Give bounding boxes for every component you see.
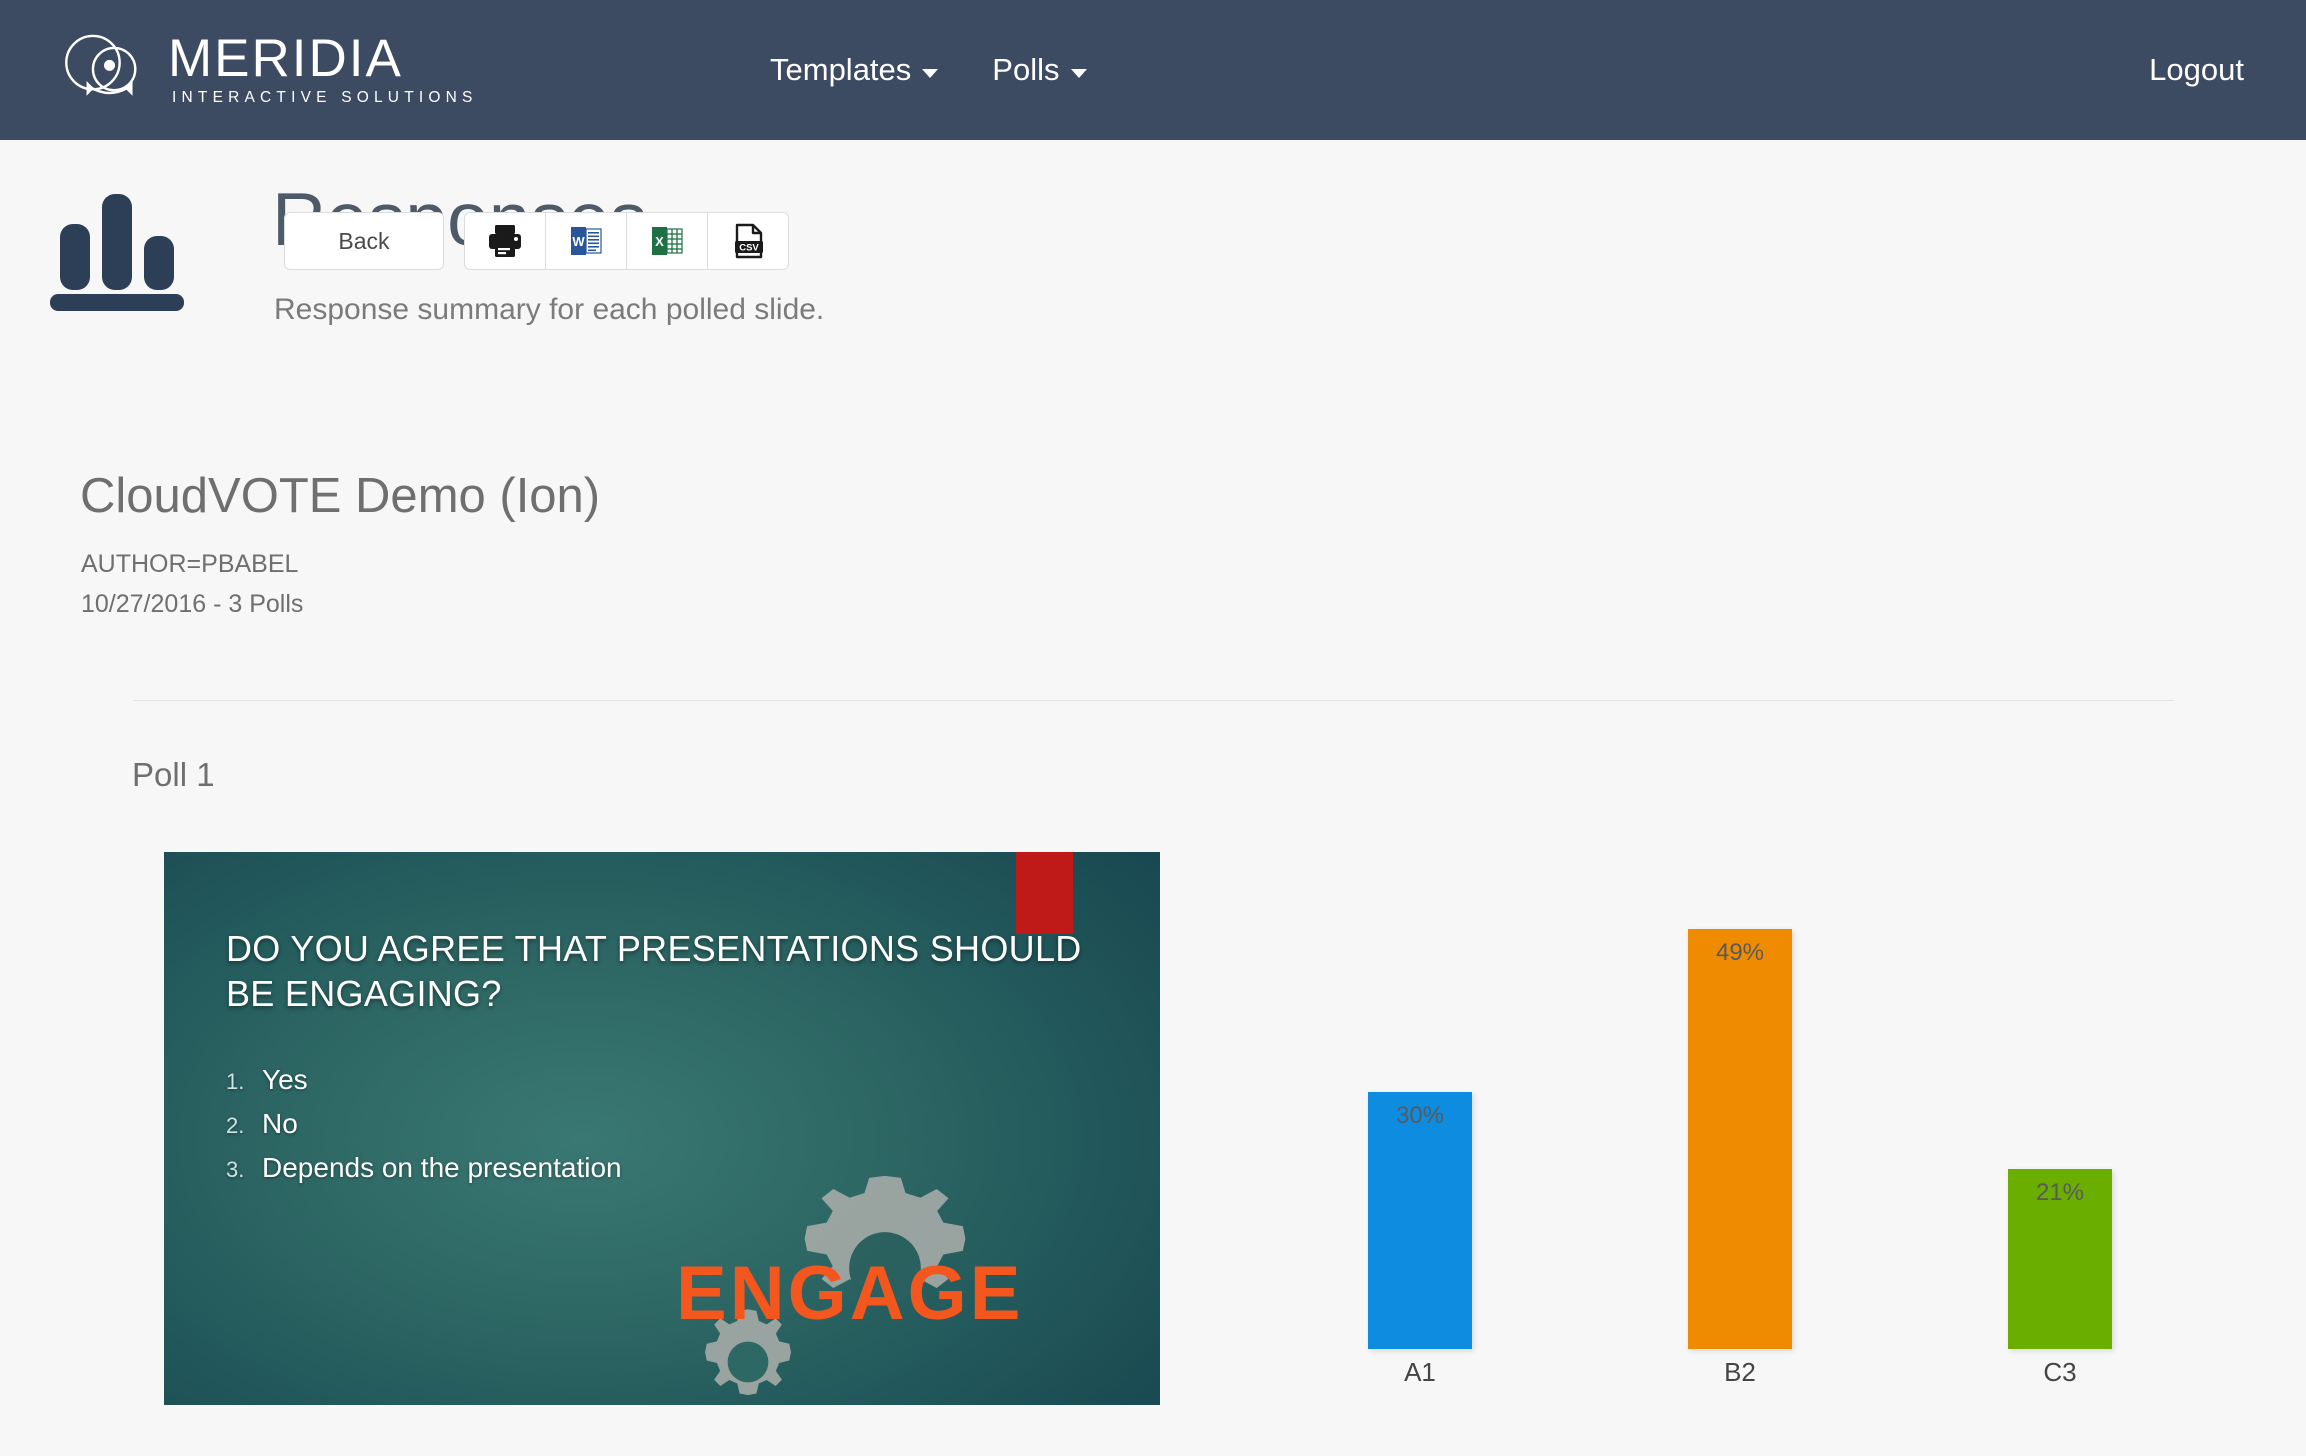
slide-option-number: 2. [226, 1113, 262, 1139]
chart-category-label: C3 [1900, 1349, 2220, 1405]
print-icon [485, 221, 525, 261]
action-toolbar: Back W [284, 212, 789, 270]
slide-option-number: 1. [226, 1069, 262, 1095]
slide-option: 1. Yes [226, 1064, 308, 1096]
csv-icon: CSV [728, 221, 768, 261]
deck-title: CloudVOTE Demo (Ion) [80, 470, 600, 524]
poll-label: Poll 1 [132, 756, 215, 794]
print-button[interactable] [464, 212, 546, 270]
meridia-circles-logo-icon [58, 24, 150, 116]
brand-name: MERIDIA [168, 33, 478, 85]
chart-bar[interactable]: 30% [1368, 1092, 1472, 1349]
chart-column: 49% [1580, 877, 1900, 1349]
chart-plot-area: 30% 49% 21% [1260, 877, 2220, 1349]
deck-date-polls: 10/27/2016 - 3 Polls [81, 590, 303, 619]
page-subtitle: Response summary for each polled slide. [274, 293, 824, 327]
nav-item-templates[interactable]: Templates [770, 52, 938, 88]
brand-logo[interactable]: MERIDIA INTERACTIVE SOLUTIONS [58, 24, 478, 116]
svg-text:W: W [572, 234, 585, 249]
slide-option-number: 3. [226, 1157, 262, 1183]
nav-item-polls[interactable]: Polls [992, 52, 1086, 88]
chart-category-label: B2 [1580, 1349, 1900, 1405]
brand-tagline: INTERACTIVE SOLUTIONS [172, 89, 478, 107]
chart-bar[interactable]: 21% [2008, 1169, 2112, 1349]
back-button[interactable]: Back [284, 212, 444, 270]
svg-text:X: X [655, 234, 664, 249]
slide-option-text: Depends on the presentation [262, 1152, 622, 1184]
section-divider [133, 700, 2174, 701]
nav-item-templates-label: Templates [770, 52, 911, 88]
chart-column: 30% [1260, 877, 1580, 1349]
export-button-group: W X [464, 212, 789, 270]
slide-option-text: No [262, 1108, 298, 1140]
chart-column: 21% [1900, 877, 2220, 1349]
chevron-down-icon [922, 69, 938, 78]
chart-bar-value: 21% [2008, 1179, 2112, 1207]
slide-option-text: Yes [262, 1064, 308, 1096]
slide-thumbnail[interactable]: ENGAGE DO YOU AGREE THAT PRESENTATIONS S… [164, 852, 1160, 1405]
word-export-button[interactable]: W [545, 212, 627, 270]
bar-chart-icon [46, 182, 196, 312]
nav-item-polls-label: Polls [992, 52, 1059, 88]
slide-option: 2. No [226, 1108, 298, 1140]
chart-bar-value: 49% [1688, 939, 1792, 967]
slide-decor-word: ENGAGE [676, 1256, 1023, 1332]
excel-export-button[interactable]: X [626, 212, 708, 270]
slide-accent-block [1016, 852, 1073, 934]
chevron-down-icon [1071, 69, 1087, 78]
chart-bar-value: 30% [1368, 1102, 1472, 1130]
excel-icon: X [647, 221, 687, 261]
logout-button[interactable]: Logout [2149, 0, 2244, 140]
deck-author: AUTHOR=PBABEL [81, 550, 298, 579]
slide-question: DO YOU AGREE THAT PRESENTATIONS SHOULD B… [226, 926, 1086, 1016]
chart-bar[interactable]: 49% [1688, 929, 1792, 1350]
word-icon: W [566, 221, 606, 261]
svg-text:CSV: CSV [739, 243, 759, 254]
poll-results-chart: 30% 49% 21% A1 B2 C3 [1260, 852, 2220, 1405]
chart-axis-labels: A1 B2 C3 [1260, 1349, 2220, 1405]
top-navbar: MERIDIA INTERACTIVE SOLUTIONS Templates … [0, 0, 2306, 140]
primary-nav: Templates Polls [770, 0, 1087, 140]
slide-option: 3. Depends on the presentation [226, 1152, 622, 1184]
chart-category-label: A1 [1260, 1349, 1580, 1405]
csv-export-button[interactable]: CSV [707, 212, 789, 270]
